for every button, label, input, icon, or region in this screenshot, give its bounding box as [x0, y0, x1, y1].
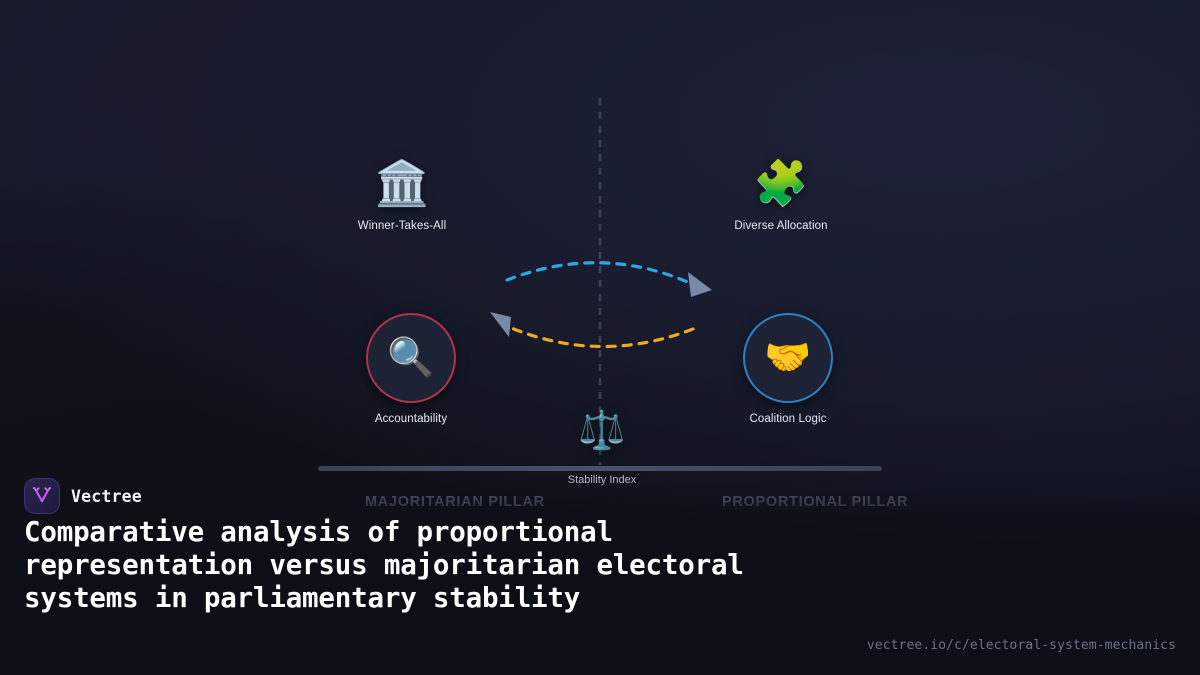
- puzzle-piece-icon: 🧩: [754, 158, 809, 210]
- brand-row: Vectree: [24, 478, 142, 514]
- node-accountability[interactable]: 🔍 Accountability: [326, 313, 496, 425]
- node-winner-takes-all[interactable]: 🏛️ Winner-Takes-All: [317, 158, 487, 232]
- stability-index-label: Stability Index: [568, 474, 636, 486]
- flow-arc-left-to-right: [507, 263, 690, 283]
- node-label: Diverse Allocation: [734, 220, 827, 232]
- classical-building-icon: 🏛️: [375, 158, 430, 210]
- handshake-icon: 🤝: [743, 313, 833, 403]
- node-label: Coalition Logic: [750, 413, 827, 425]
- node-diverse-allocation[interactable]: 🧩 Diverse Allocation: [696, 158, 866, 232]
- flow-arrowhead-right: [688, 272, 712, 297]
- vectree-v-tree-icon: [24, 478, 60, 514]
- node-label: Accountability: [375, 413, 447, 425]
- stability-baseline-bar: [318, 466, 882, 471]
- node-label: Winner-Takes-All: [358, 220, 447, 232]
- headline-text: Comparative analysis of proportional rep…: [24, 516, 854, 615]
- node-coalition-logic[interactable]: 🤝 Coalition Logic: [703, 313, 873, 425]
- source-url[interactable]: vectree.io/c/electoral-system-mechanics: [867, 638, 1176, 653]
- brand-name: Vectree: [71, 487, 142, 506]
- infographic-canvas: 🏛️ Winner-Takes-All 🧩 Diverse Allocation…: [0, 0, 1200, 675]
- pillar-label-majoritarian: MAJORITARIAN PILLAR: [365, 494, 545, 510]
- pillar-label-proportional: PROPORTIONAL PILLAR: [722, 494, 908, 510]
- balance-scale-icon: ⚖️: [578, 412, 625, 450]
- magnifying-glass-icon: 🔍: [366, 313, 456, 403]
